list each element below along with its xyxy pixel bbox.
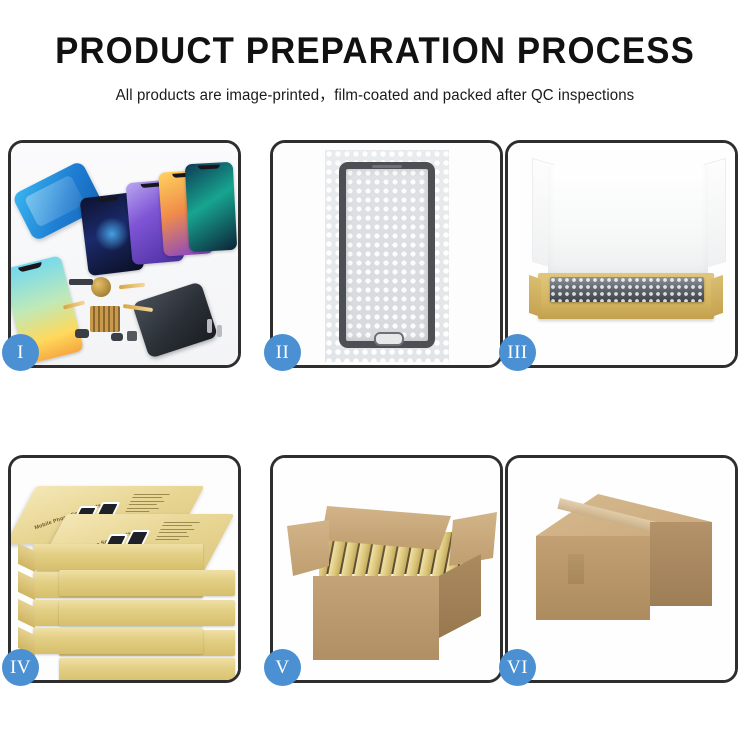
earpiece-slot-graphic — [372, 165, 402, 168]
parts-collage-image — [11, 143, 238, 365]
carton-flap-right-graphic — [449, 512, 497, 566]
step-badge-1: I — [2, 334, 39, 371]
foam-padding-graphic — [548, 165, 708, 279]
step-6-image — [508, 458, 735, 680]
step-1-image — [11, 143, 238, 365]
step-badge-2: II — [264, 334, 301, 371]
carton-flap-left-graphic — [287, 520, 329, 576]
step-3-image — [508, 143, 735, 365]
chip-grid-graphic — [90, 306, 120, 332]
step-panel-5: V — [270, 455, 503, 683]
phone-screen-graphic-4 — [185, 162, 238, 252]
flex-cable-graphic-1 — [119, 283, 145, 290]
part-graphic-1 — [69, 279, 93, 285]
home-button-graphic — [374, 332, 404, 346]
coil-component-graphic — [91, 277, 111, 297]
step-5-image — [273, 458, 500, 680]
packed-screen-graphic — [550, 277, 704, 302]
carton-seam-graphic — [568, 554, 584, 584]
step-4-image: Mobile Phone Spare Parts Mobile Phone Sp… — [11, 458, 238, 680]
sealed-carton-front-graphic — [536, 536, 650, 620]
step-panel-2: II — [270, 140, 503, 368]
wrapped-screen-graphic — [339, 162, 435, 348]
screw-graphic-2 — [217, 325, 222, 337]
process-steps-grid: I II III — [0, 0, 750, 750]
step-panel-3: III — [505, 140, 738, 368]
retail-box-edge-1 — [33, 544, 203, 570]
sealed-carton-side-graphic — [650, 522, 712, 606]
carton-front-graphic — [313, 576, 439, 660]
product-preparation-infographic: PRODUCT PREPARATION PROCESS All products… — [0, 0, 750, 750]
retail-box-edge-5 — [59, 600, 235, 626]
step-2-image — [273, 143, 500, 365]
part-graphic-4 — [127, 331, 137, 341]
retail-box-stack-graphic: Mobile Phone Spare Parts Mobile Phone Sp… — [17, 484, 238, 674]
retail-box-edge-8 — [59, 658, 235, 680]
step-badge-3: III — [499, 334, 536, 371]
step-panel-4: Mobile Phone Spare Parts Mobile Phone Sp… — [8, 455, 241, 683]
step-badge-6: VI — [499, 649, 536, 686]
retail-box-edge-4 — [59, 570, 235, 596]
retail-box-edge-7 — [33, 628, 203, 654]
step-panel-6: VI — [505, 455, 738, 683]
part-graphic-3 — [111, 333, 123, 341]
phone-back-cover-graphic — [132, 281, 218, 358]
step-badge-5: V — [264, 649, 301, 686]
part-graphic-2 — [75, 329, 89, 338]
step-panel-1: I — [8, 140, 241, 368]
step-badge-4: IV — [2, 649, 39, 686]
screw-graphic-1 — [207, 319, 212, 333]
